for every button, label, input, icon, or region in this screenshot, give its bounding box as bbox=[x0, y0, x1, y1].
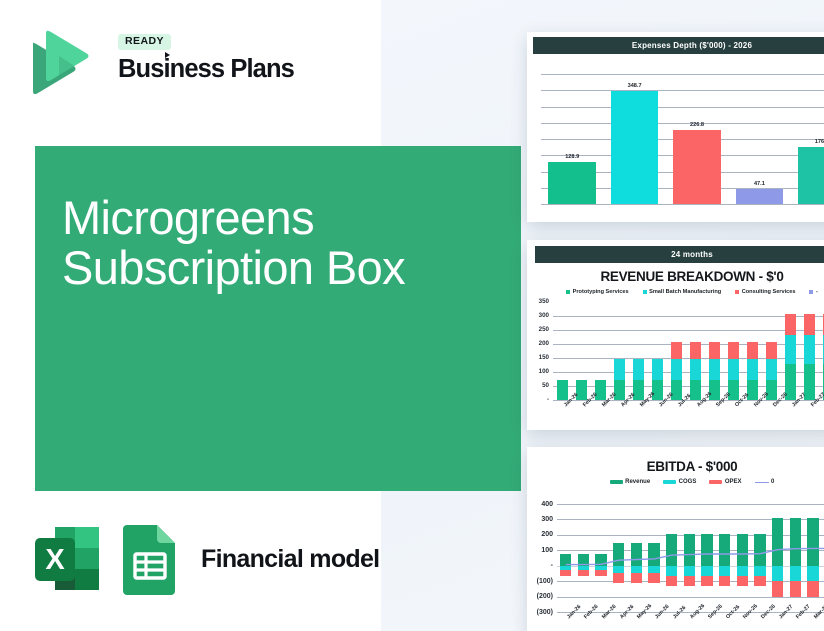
legend-label: Consulting Services bbox=[742, 289, 796, 295]
chart3-plot-area: 400300200100-(100)(200)(300) bbox=[557, 504, 824, 612]
chart1-gridline bbox=[541, 90, 824, 91]
chart1-bar-label: 47.1 bbox=[728, 181, 790, 187]
brand-name: Business Plans bbox=[118, 57, 294, 83]
chart2-gridline bbox=[553, 344, 824, 345]
chart1-gridline bbox=[541, 74, 824, 75]
chart2-stacked-bar bbox=[728, 342, 739, 400]
legend-color-swatch bbox=[610, 480, 623, 484]
chart2-bar-segment bbox=[671, 359, 682, 379]
legend-item: Revenue bbox=[610, 479, 651, 485]
chart-card-ebitda: EBITDA - $'000 RevenueCOGSOPEX0 40030020… bbox=[527, 447, 824, 631]
chart3-y-tick: - bbox=[528, 562, 553, 569]
chart2-y-tick: 100 bbox=[529, 369, 549, 375]
chart2-y-tick: 350 bbox=[529, 299, 549, 305]
legend-label: Small Batch Manufacturing bbox=[649, 289, 721, 295]
chart2-title: REVENUE BREAKDOWN - $'0 bbox=[527, 269, 824, 284]
chart2-y-tick: 150 bbox=[529, 355, 549, 361]
legend-color-swatch bbox=[566, 290, 570, 294]
chart-card-revenue-breakdown: 24 months REVENUE BREAKDOWN - $'0 Protot… bbox=[527, 240, 824, 430]
chart2-bar-segment bbox=[671, 342, 682, 359]
footer-formats: X Financial model bbox=[31, 520, 379, 598]
chart2-bar-segment bbox=[690, 342, 701, 359]
chart2-gridline bbox=[553, 316, 824, 317]
chart2-header: 24 months bbox=[535, 246, 824, 263]
chart3-y-tick: 300 bbox=[528, 516, 553, 523]
chart3-y-tick: (300) bbox=[528, 609, 553, 616]
chart2-bar-segment bbox=[633, 359, 644, 379]
chart2-bar-segment bbox=[652, 359, 663, 379]
legend-label: COGS bbox=[679, 479, 697, 485]
legend-item: Consulting Services bbox=[735, 289, 795, 295]
legend-item: Small Batch Manufacturing bbox=[643, 289, 722, 295]
chart2-y-tick: - bbox=[529, 397, 549, 403]
legend-color-swatch bbox=[809, 290, 813, 294]
chart2-y-tick: 200 bbox=[529, 341, 549, 347]
legend-label: - bbox=[816, 289, 818, 295]
chart2-bar-segment bbox=[709, 359, 720, 379]
legend-label: OPEX bbox=[725, 479, 742, 485]
chart2-bar-segment bbox=[690, 359, 701, 379]
chart1-bar bbox=[548, 162, 595, 204]
chart1-bar-label: 348.7 bbox=[603, 83, 665, 89]
chart3-legend: RevenueCOGSOPEX0 bbox=[527, 479, 824, 485]
chart2-bar-segment bbox=[785, 335, 796, 365]
legend-color-swatch bbox=[663, 480, 676, 484]
legend-label: 0 bbox=[771, 479, 774, 485]
chart1-bar-label: 128.9 bbox=[541, 154, 603, 160]
chart2-stacked-bar bbox=[804, 314, 815, 400]
chart1-gridline bbox=[541, 107, 824, 108]
chart2-legend: Prototyping ServicesSmall Batch Manufact… bbox=[527, 289, 824, 295]
chart2-bar-segment bbox=[709, 342, 720, 359]
chart2-gridline bbox=[553, 330, 824, 331]
chart3-y-tick: 400 bbox=[528, 501, 553, 508]
title-banner: Microgreens Subscription Box bbox=[35, 146, 521, 491]
legend-item: - bbox=[809, 289, 817, 295]
page-title: Microgreens Subscription Box bbox=[62, 193, 492, 294]
chart2-bar-segment bbox=[614, 359, 625, 379]
chart1-bar bbox=[611, 91, 658, 204]
chart2-stacked-bar bbox=[747, 342, 758, 400]
chart2-bar-segment bbox=[804, 335, 815, 365]
chart1-plot-area: 128.9348.7226.847.1176.5 bbox=[541, 60, 824, 212]
play-accent-icon bbox=[165, 52, 170, 58]
chart3-title: EBITDA - $'000 bbox=[527, 459, 824, 474]
chart2-bar-segment bbox=[728, 342, 739, 359]
chart2-stacked-bar bbox=[671, 342, 682, 400]
legend-label: Revenue bbox=[625, 479, 650, 485]
brand-logo-block: READY Business Plans bbox=[26, 26, 356, 98]
legend-label: Prototyping Services bbox=[573, 289, 629, 295]
legend-item: COGS bbox=[663, 479, 696, 485]
chart1-gridline bbox=[541, 204, 824, 205]
chart2-y-tick: 300 bbox=[529, 313, 549, 319]
chart2-stacked-bar bbox=[690, 342, 701, 400]
poster-canvas: READY Business Plans Microgreens Subscri… bbox=[0, 0, 824, 631]
brand-name-text: Business Plans bbox=[118, 55, 294, 83]
chart1-bar-label: 176.5 bbox=[791, 139, 824, 145]
ready-badge: READY bbox=[118, 34, 171, 50]
double-play-triangle-logo-icon bbox=[26, 28, 92, 96]
chart2-gridline bbox=[553, 372, 824, 373]
chart2-stacked-bar bbox=[557, 380, 568, 400]
chart2-stacked-bar bbox=[785, 314, 796, 400]
chart3-y-tick: 200 bbox=[528, 531, 553, 538]
svg-text:X: X bbox=[45, 544, 65, 576]
chart3-y-tick: (200) bbox=[528, 593, 553, 600]
chart3-y-tick: 100 bbox=[528, 547, 553, 554]
legend-line-swatch bbox=[755, 482, 769, 483]
chart2-gridline bbox=[553, 358, 824, 359]
chart3-ebitda-line bbox=[557, 504, 824, 612]
financial-model-label: Financial model bbox=[201, 545, 379, 574]
chart2-bar-segment bbox=[766, 359, 777, 379]
chart1-header: Expenses Depth ($'000) - 2026 bbox=[533, 37, 824, 54]
legend-color-swatch bbox=[709, 480, 722, 484]
legend-color-swatch bbox=[735, 290, 739, 294]
microsoft-excel-icon: X bbox=[31, 521, 103, 597]
chart2-bar-segment bbox=[785, 314, 796, 335]
legend-item: 0 bbox=[755, 479, 775, 485]
chart2-bar-segment bbox=[766, 342, 777, 359]
brand-text: READY Business Plans bbox=[118, 31, 294, 82]
chart1-bar bbox=[798, 147, 824, 204]
chart2-bar-segment bbox=[557, 380, 568, 400]
chart2-gridline bbox=[553, 386, 824, 387]
chart1-bar-label: 226.8 bbox=[666, 122, 728, 128]
chart2-stacked-bar bbox=[766, 342, 777, 400]
chart2-y-tick: 250 bbox=[529, 327, 549, 333]
legend-color-swatch bbox=[643, 290, 647, 294]
legend-item: Prototyping Services bbox=[566, 289, 628, 295]
chart2-bar-segment bbox=[728, 359, 739, 379]
chart2-y-tick: 50 bbox=[529, 383, 549, 389]
chart2-bar-segment bbox=[747, 342, 758, 359]
chart2-x-axis: Jan-26Feb-26Mar-26Apr-26May-26Jun-26Jul-… bbox=[553, 402, 824, 430]
chart2-stacked-bar bbox=[709, 342, 720, 400]
chart2-bar-segment bbox=[747, 359, 758, 379]
chart-card-expenses-depth: Expenses Depth ($'000) - 2026 128.9348.7… bbox=[527, 32, 824, 222]
chart3-y-tick: (100) bbox=[528, 578, 553, 585]
chart3-x-axis: Jan-26Feb-26Mar-26Apr-26May-26Jun-26Jul-… bbox=[557, 614, 824, 631]
google-sheets-icon bbox=[117, 521, 183, 597]
legend-item: OPEX bbox=[709, 479, 741, 485]
chart2-bar-segment bbox=[804, 314, 815, 335]
chart1-bar bbox=[736, 189, 783, 204]
chart1-bar bbox=[673, 130, 720, 204]
chart2-plot-area: 35030025020015010050- bbox=[553, 302, 824, 400]
